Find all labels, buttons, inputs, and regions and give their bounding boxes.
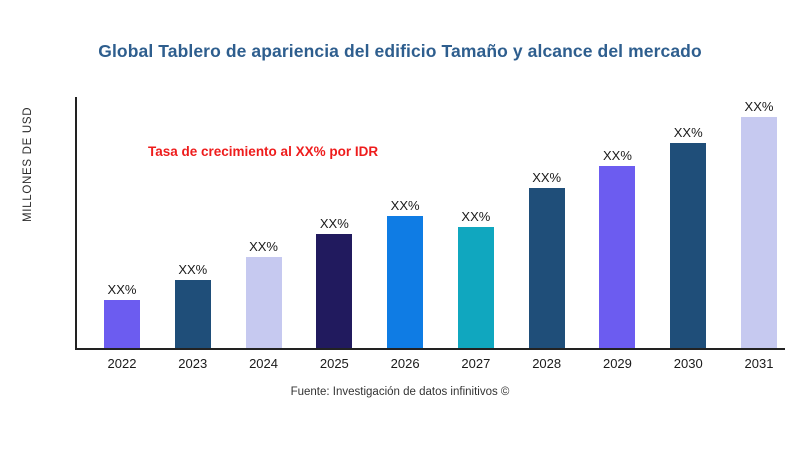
- x-axis-tick-2031: 2031: [729, 356, 789, 371]
- x-axis-tick-2025: 2025: [304, 356, 364, 371]
- page-title: Global Tablero de apariencia del edifici…: [0, 41, 800, 62]
- bar-group[interactable]: XX%: [387, 194, 423, 348]
- bar[interactable]: [529, 188, 565, 348]
- x-axis-tick-2023: 2023: [163, 356, 223, 371]
- bar-group[interactable]: XX%: [741, 95, 777, 348]
- bar[interactable]: [458, 227, 494, 349]
- bar-value-label: XX%: [249, 239, 278, 254]
- bar[interactable]: [599, 166, 635, 349]
- bar-group[interactable]: XX%: [316, 212, 352, 348]
- x-axis-tick-2024: 2024: [234, 356, 294, 371]
- y-axis-line: [75, 97, 77, 350]
- bar[interactable]: [316, 234, 352, 348]
- y-axis-label: MILLONES DE USD: [22, 107, 34, 222]
- x-axis-line: [75, 348, 785, 350]
- bar-value-label: XX%: [178, 262, 207, 277]
- x-axis-tick-2026: 2026: [375, 356, 435, 371]
- bar-group[interactable]: XX%: [175, 258, 211, 349]
- bar-value-label: XX%: [320, 216, 349, 231]
- bar[interactable]: [741, 117, 777, 348]
- bar-group[interactable]: XX%: [599, 144, 635, 349]
- x-axis-tick-2029: 2029: [587, 356, 647, 371]
- bar[interactable]: [175, 280, 211, 349]
- x-axis-tick-2027: 2027: [446, 356, 506, 371]
- bar[interactable]: [670, 143, 706, 349]
- x-axis-tick-2030: 2030: [658, 356, 718, 371]
- bar-group[interactable]: XX%: [529, 166, 565, 348]
- bar[interactable]: [387, 216, 423, 348]
- bar-group[interactable]: XX%: [246, 235, 282, 348]
- bar-value-label: XX%: [461, 209, 490, 224]
- source-note: Fuente: Investigación de datos infinitiv…: [0, 386, 800, 398]
- bar-value-label: XX%: [603, 148, 632, 163]
- bar[interactable]: [246, 257, 282, 348]
- bar-value-label: XX%: [532, 170, 561, 185]
- x-axis-tick-2022: 2022: [92, 356, 152, 371]
- bar-group[interactable]: XX%: [458, 205, 494, 349]
- bar-group[interactable]: XX%: [104, 278, 140, 348]
- bar-value-label: XX%: [745, 99, 774, 114]
- x-axis-tick-2028: 2028: [517, 356, 577, 371]
- plot-area: XX%XX%XX%XX%XX%XX%XX%XX%XX%XX%: [75, 97, 785, 350]
- bar-value-label: XX%: [391, 198, 420, 213]
- chart-page: Global Tablero de apariencia del edifici…: [0, 0, 800, 450]
- bar-value-label: XX%: [674, 125, 703, 140]
- bar-value-label: XX%: [108, 282, 137, 297]
- bar-group[interactable]: XX%: [670, 121, 706, 349]
- bar[interactable]: [104, 300, 140, 348]
